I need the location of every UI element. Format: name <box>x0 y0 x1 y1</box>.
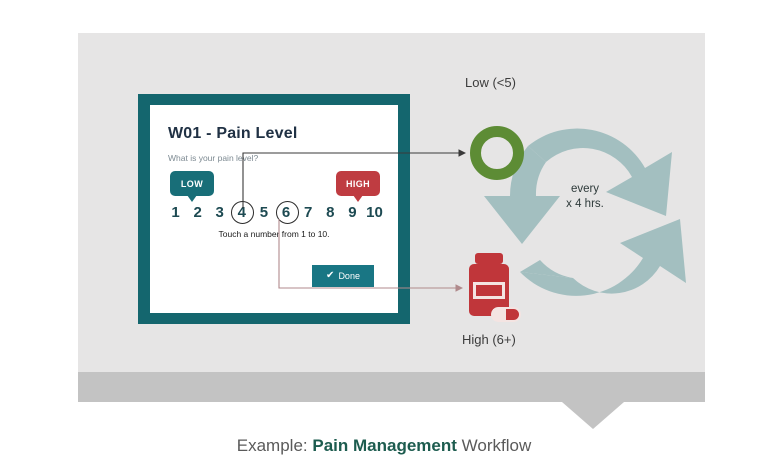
tablet-screen: W01 - Pain Level What is your pain level… <box>150 105 398 313</box>
pill-bottle-icon <box>466 252 528 324</box>
pain-scale-number-selected-4[interactable]: 4 <box>232 203 251 222</box>
pain-scale-number[interactable]: 10 <box>365 203 384 222</box>
green-ring-icon <box>470 126 524 180</box>
low-anchor-badge: LOW <box>170 171 214 196</box>
pain-scale-number[interactable]: 3 <box>210 203 229 222</box>
page-title: W01 - Pain Level <box>168 125 297 143</box>
pain-scale-number[interactable]: 2 <box>188 203 207 222</box>
slide-stage: W01 - Pain Level What is your pain level… <box>0 0 768 474</box>
pain-scale-number[interactable]: 1 <box>166 203 185 222</box>
pain-scale[interactable]: 1 2 3 4 5 6 7 8 9 10 <box>166 203 384 222</box>
pain-scale-number[interactable]: 7 <box>299 203 318 222</box>
touch-hint-text: Touch a number from 1 to 10. <box>150 229 398 239</box>
cycle-frequency-label: every x 4 hrs. <box>548 182 622 212</box>
cycle-frequency-line1: every <box>548 182 622 197</box>
low-outcome-label: Low (<5) <box>465 75 516 90</box>
pain-question-text: What is your pain level? <box>168 153 258 163</box>
high-anchor-badge: HIGH <box>336 171 380 196</box>
pain-scale-number[interactable]: 8 <box>321 203 340 222</box>
caption-emphasis: Pain Management <box>312 436 457 455</box>
pain-scale-number-selected-6[interactable]: 6 <box>277 203 296 222</box>
cycle-frequency-line2: x 4 hrs. <box>548 197 622 212</box>
done-button[interactable]: ✔ Done <box>312 265 374 287</box>
caption-prefix: Example: <box>237 436 313 455</box>
pain-scale-number[interactable]: 9 <box>343 203 362 222</box>
slide-caption: Example: Pain Management Workflow <box>0 436 768 456</box>
tablet-device: W01 - Pain Level What is your pain level… <box>138 94 410 324</box>
caption-suffix: Workflow <box>457 436 531 455</box>
check-icon: ✔ <box>326 271 334 281</box>
slide-footer-pointer-icon <box>562 402 624 429</box>
high-outcome-label: High (6+) <box>462 332 516 347</box>
pain-scale-number[interactable]: 5 <box>254 203 273 222</box>
done-button-label: Done <box>338 271 360 281</box>
slide-footer-band <box>78 372 705 402</box>
